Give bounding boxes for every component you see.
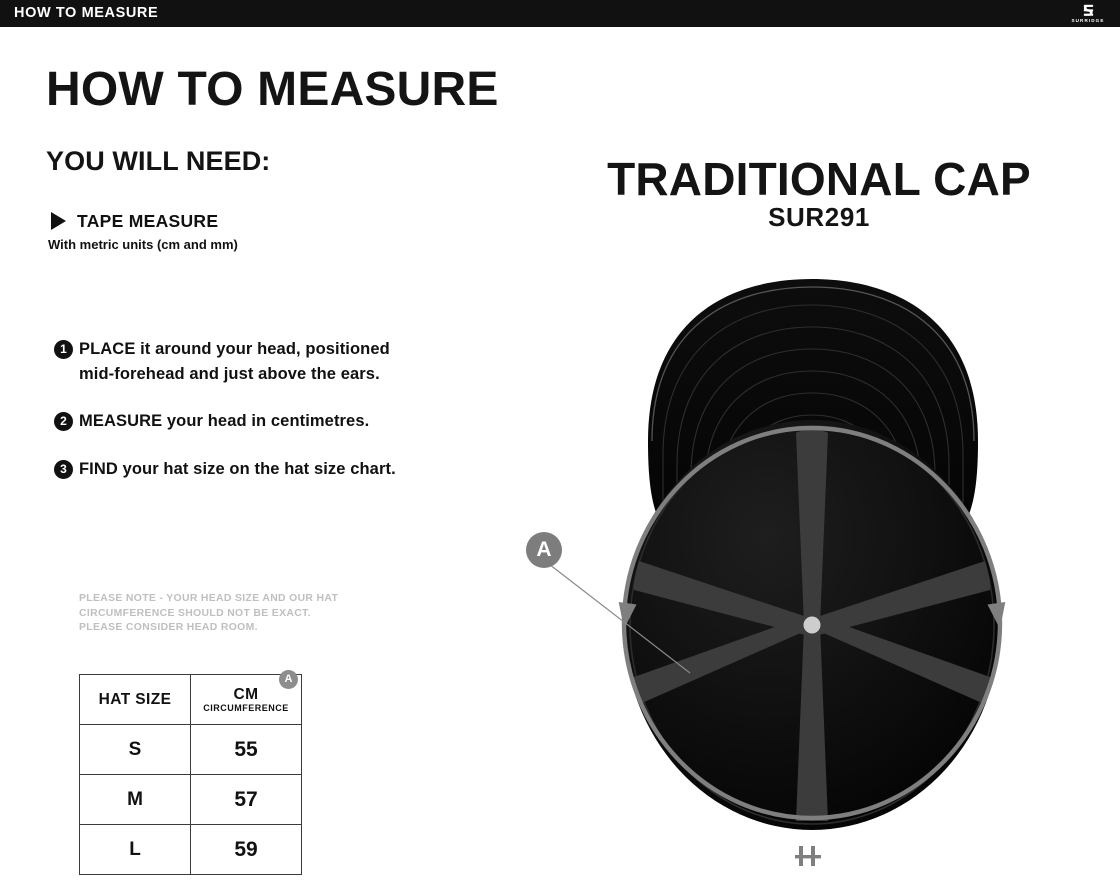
- product-title: TRADITIONAL CAP: [520, 152, 1118, 206]
- table-header-cm-sub: CIRCUMFERENCE: [191, 703, 301, 714]
- cell-circumference: 57: [191, 775, 302, 825]
- step-lead: MEASURE: [79, 412, 162, 430]
- steps-list: 1 PLACE it around your head, positioned …: [54, 337, 414, 504]
- tape-measure-subtitle: With metric units (cm and mm): [48, 237, 238, 252]
- table-header-callout-badge: A: [279, 670, 298, 689]
- step-rest: your hat size on the hat size chart.: [118, 460, 396, 478]
- step-item: 3 FIND your hat size on the hat size cha…: [54, 457, 414, 482]
- how-to-measure-page: HOW TO MEASURE SURRIDGE HOW TO MEASURE Y…: [0, 0, 1120, 883]
- step-lead: PLACE: [79, 340, 135, 358]
- table-row: S 55: [80, 725, 302, 775]
- cell-hat-size: M: [80, 775, 191, 825]
- page-title: HOW TO MEASURE: [46, 62, 499, 117]
- table-header-cm-wrap: A CM CIRCUMFERENCE: [191, 686, 301, 714]
- cell-circumference: 55: [191, 725, 302, 775]
- step-text: PLACE it around your head, positioned mi…: [79, 337, 414, 386]
- brand-wordmark: SURRIDGE: [1071, 18, 1104, 24]
- step-lead: FIND: [79, 460, 118, 478]
- step-item: 2 MEASURE your head in centimetres.: [54, 409, 414, 434]
- table-row: L 59: [80, 825, 302, 875]
- step-item: 1 PLACE it around your head, positioned …: [54, 337, 414, 386]
- table-header-row: HAT SIZE A CM CIRCUMFERENCE: [80, 675, 302, 725]
- cell-hat-size: L: [80, 825, 191, 875]
- step-rest: your head in centimetres.: [162, 412, 369, 430]
- table-header-cm: A CM CIRCUMFERENCE: [191, 675, 302, 725]
- crown-button-icon: [804, 617, 821, 634]
- tape-measure-label: TAPE MEASURE: [77, 211, 218, 232]
- brand-logo: SURRIDGE: [1064, 1, 1112, 26]
- you-will-need-heading: YOU WILL NEED:: [46, 146, 270, 177]
- table-header-hat-size: HAT SIZE: [80, 675, 191, 725]
- please-note-text: PLEASE NOTE - YOUR HEAD SIZE AND OUR HAT…: [79, 592, 338, 636]
- tape-measure-item: TAPE MEASURE: [48, 210, 218, 232]
- step-number-badge: 2: [54, 412, 73, 431]
- top-bar: HOW TO MEASURE SURRIDGE: [0, 0, 1120, 27]
- cap-diagram: [500, 265, 1120, 883]
- surridge-s-monogram-icon: [1081, 3, 1096, 18]
- step-number-badge: 1: [54, 340, 73, 359]
- step-text: MEASURE your head in centimetres.: [79, 409, 369, 434]
- step-text: FIND your hat size on the hat size chart…: [79, 457, 396, 482]
- step-number-badge: 3: [54, 460, 73, 479]
- cell-hat-size: S: [80, 725, 191, 775]
- product-code: SUR291: [520, 202, 1118, 233]
- traditional-cap-top-view-diagram: [500, 265, 1120, 883]
- hat-size-table: HAT SIZE A CM CIRCUMFERENCE S 55 M 57: [79, 674, 302, 875]
- callout-badge-a: A: [526, 532, 562, 568]
- triangle-play-icon: [48, 210, 68, 232]
- table-row: M 57: [80, 775, 302, 825]
- cell-circumference: 59: [191, 825, 302, 875]
- top-bar-title: HOW TO MEASURE: [14, 5, 158, 21]
